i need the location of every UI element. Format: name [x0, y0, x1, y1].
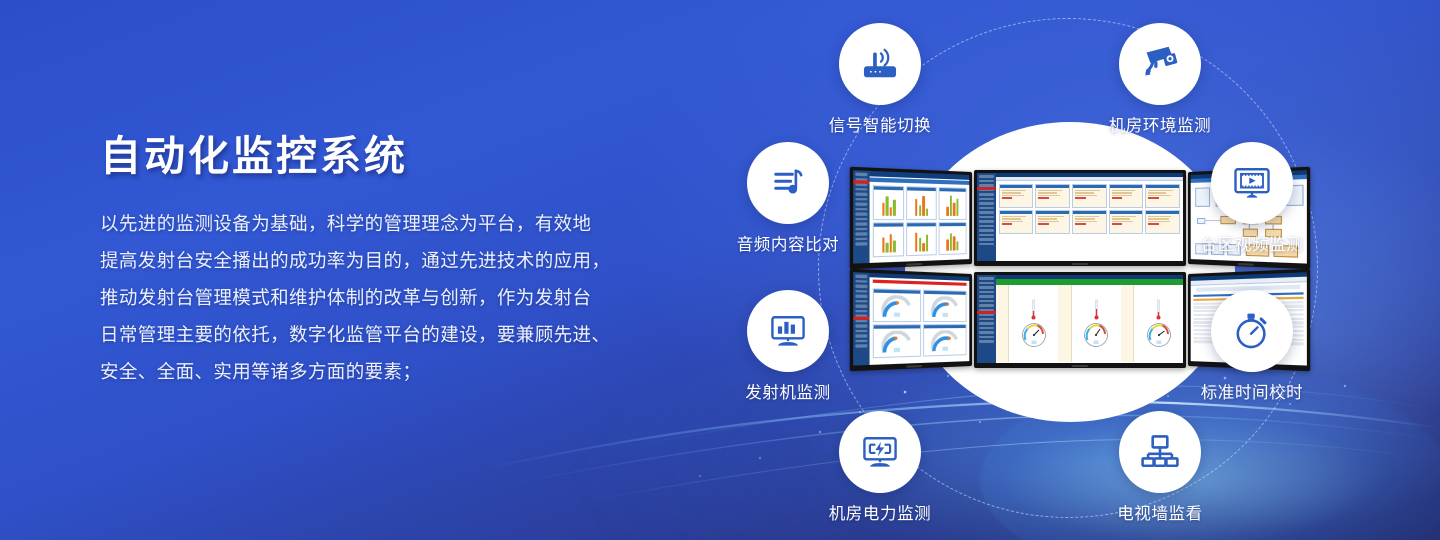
monitor-bottom-center[interactable] — [974, 272, 1186, 368]
monitor-battery-icon — [839, 411, 921, 493]
hero-banner: 自动化监控系统 以先进的监测设备为基础，科学的管理理念为平台，有效地 提高发射台… — [0, 0, 1440, 540]
screen-sidebar — [977, 275, 996, 363]
feature-label: 机房电力监测 — [775, 500, 985, 524]
description-line: 推动发射台管理模式和维护体制的改革与创新，作为发射台 — [100, 279, 692, 316]
cctv-camera-icon — [1119, 23, 1201, 105]
feature-node-time-sync[interactable]: 标准时间校时 — [1252, 331, 1253, 332]
feature-node-area-video[interactable]: 台区视频监测 — [1252, 183, 1253, 184]
stopwatch-icon — [1211, 290, 1293, 372]
hero-copy: 自动化监控系统 以先进的监测设备为基础，科学的管理理念为平台，有效地 提高发射台… — [100, 134, 700, 390]
sitemap-icon — [1119, 411, 1201, 493]
monitor-bottom-left[interactable] — [850, 269, 972, 372]
screen-sidebar — [853, 272, 870, 365]
description-line: 安全、全面、实用等诸多方面的要素； — [100, 353, 692, 390]
monitor-barchart-icon — [747, 290, 829, 372]
feature-label: 机房环境监测 — [1055, 112, 1265, 136]
feature-label: 台区视频监测 — [1147, 231, 1357, 255]
feature-node-audio-compare[interactable]: 音频内容比对 — [788, 183, 789, 184]
screen-sidebar — [977, 173, 996, 261]
description-line: 提高发射台安全播出的成功率为目的，通过先进技术的应用， — [100, 242, 692, 279]
feature-node-signal-switch[interactable]: 信号智能切换 — [880, 64, 881, 65]
feature-node-room-power[interactable]: 机房电力监测 — [880, 452, 881, 453]
router-wifi-icon — [839, 23, 921, 105]
hero-description: 以先进的监测设备为基础，科学的管理理念为平台，有效地 提高发射台安全播出的成功率… — [100, 205, 692, 390]
feature-label: 标准时间校时 — [1147, 379, 1357, 403]
description-line: 以先进的监测设备为基础，科学的管理理念为平台，有效地 — [100, 205, 692, 242]
description-line: 日常管理主要的依托，数字化监管平台的建设，要兼顾先进、 — [100, 316, 692, 353]
feature-diagram: 信号智能切换 机房环境监测 — [700, 0, 1440, 540]
dial-gauge-row — [996, 275, 1183, 363]
page-title: 自动化监控系统 — [100, 134, 700, 179]
feature-label: 信号智能切换 — [775, 112, 985, 136]
feature-node-room-environment[interactable]: 机房环境监测 — [1160, 64, 1161, 65]
feature-label: 发射机监测 — [683, 379, 893, 403]
feature-node-transmitter[interactable]: 发射机监测 — [788, 331, 789, 332]
feature-label: 音频内容比对 — [683, 231, 893, 255]
arc-gauge-grid — [870, 273, 970, 365]
audio-note-icon — [747, 142, 829, 224]
feature-label: 电视墙监看 — [1055, 500, 1265, 524]
monitor-play-icon — [1211, 142, 1293, 224]
feature-node-tv-wall[interactable]: 电视墙监看 — [1160, 452, 1161, 453]
